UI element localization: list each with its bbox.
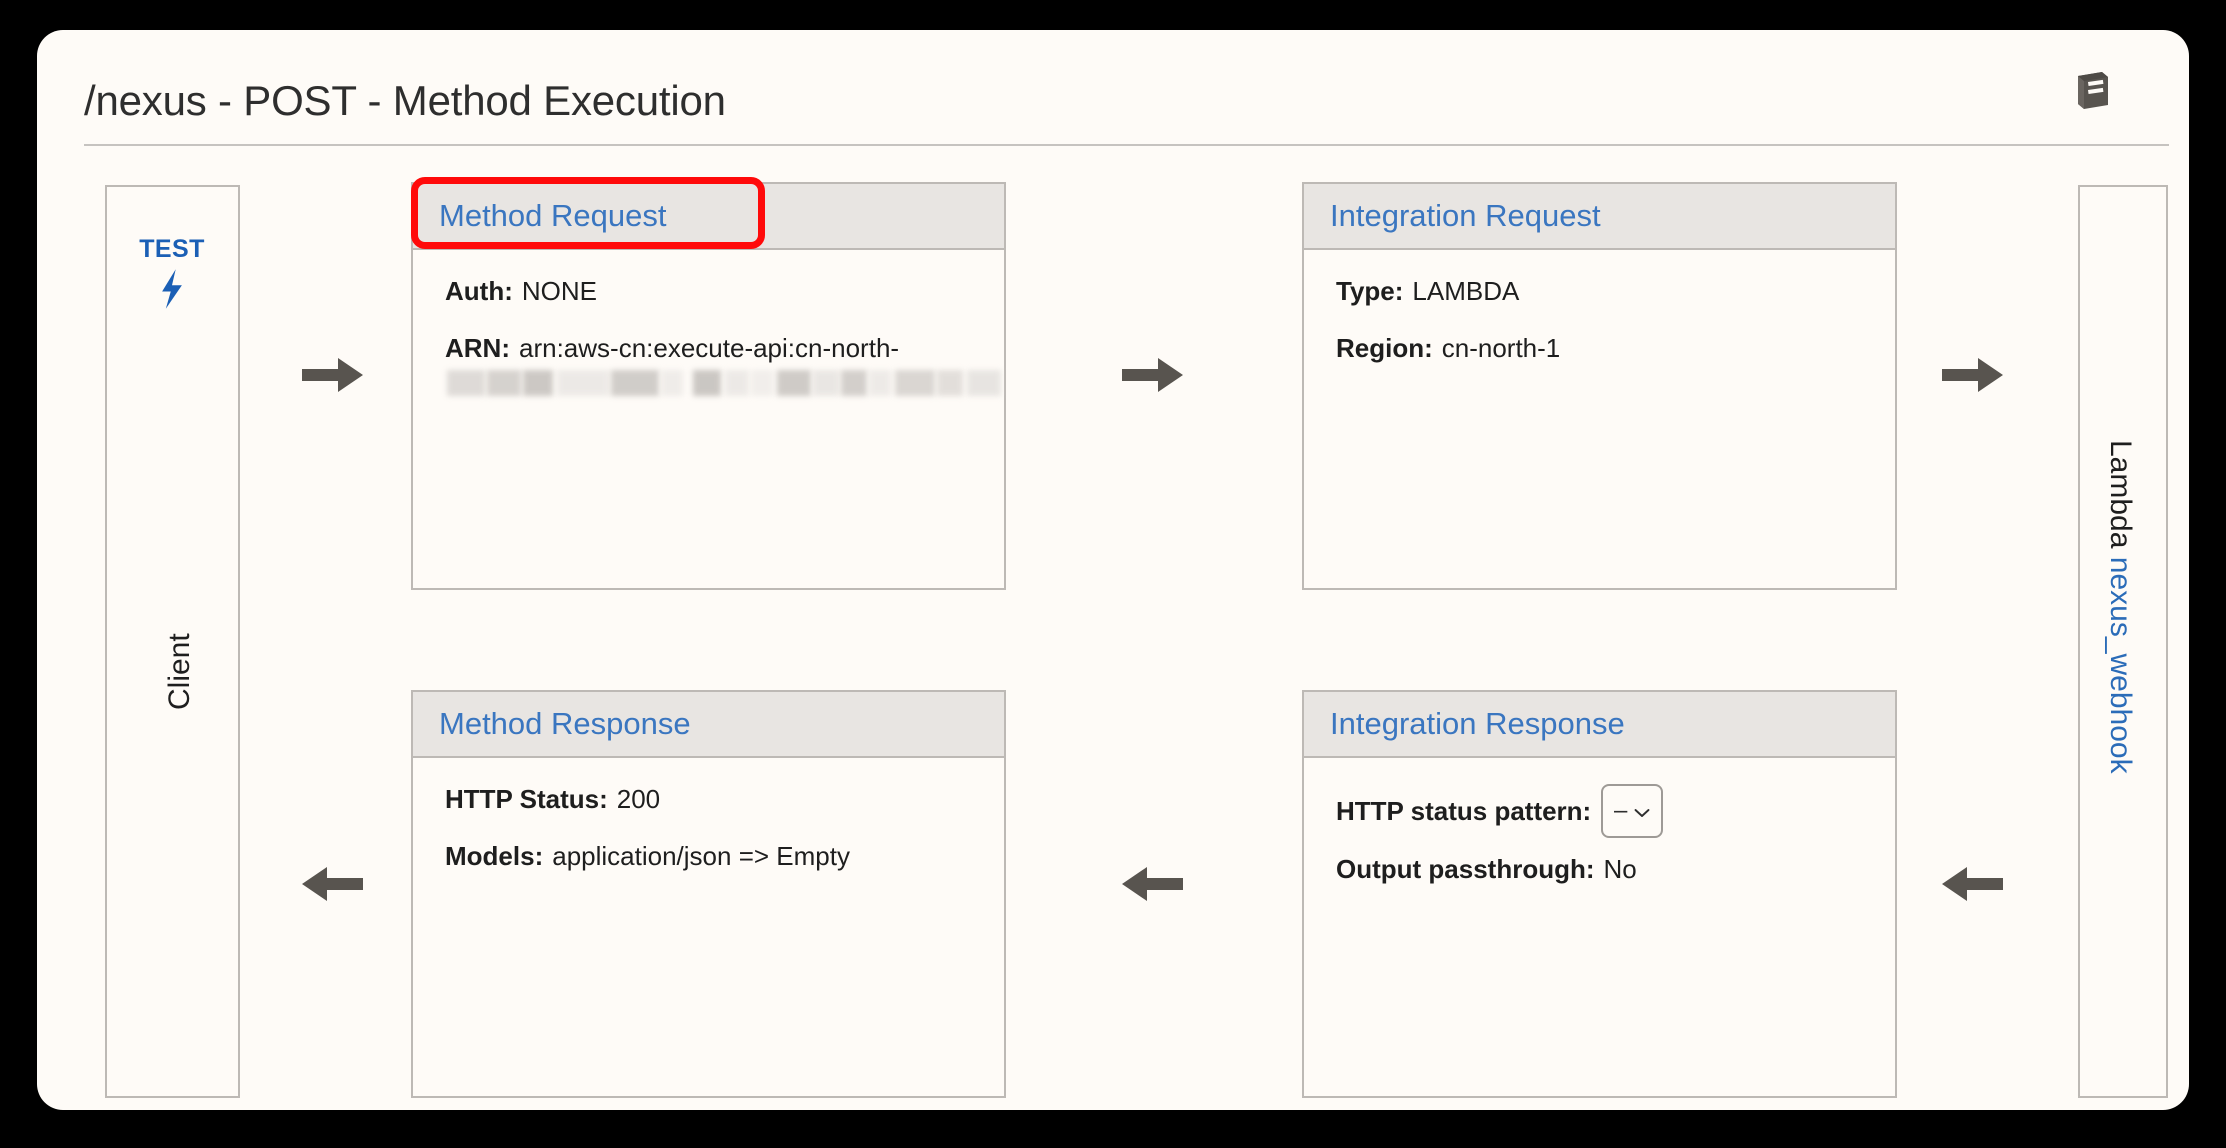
models-value: application/json => Empty (552, 841, 850, 872)
integration-request-region-row: Region: cn-north-1 (1336, 333, 1895, 364)
status-pattern-dropdown[interactable]: – (1601, 784, 1663, 838)
auth-value: NONE (522, 276, 597, 307)
method-request-title: Method Request (439, 198, 666, 234)
integration-response-box[interactable]: Integration Response HTTP status pattern… (1302, 690, 1897, 1098)
arrow-left-icon (302, 865, 364, 908)
title-divider (84, 144, 2169, 146)
method-response-header[interactable]: Method Response (413, 692, 1004, 758)
integration-response-body: HTTP status pattern: – Output passthroug… (1304, 758, 1895, 885)
method-request-header[interactable]: Method Request (413, 184, 1004, 250)
chevron-down-icon (1634, 797, 1650, 825)
status-pattern-value: – (1614, 797, 1627, 825)
type-key: Type: (1336, 276, 1403, 307)
type-value: LAMBDA (1412, 276, 1519, 307)
lightning-bolt-icon (137, 268, 207, 315)
method-response-body: HTTP Status: 200 Models: application/jso… (413, 758, 1004, 872)
region-key: Region: (1336, 333, 1433, 364)
integration-request-box[interactable]: Integration Request Type: LAMBDA Region:… (1302, 182, 1897, 590)
arrow-right-icon (1122, 356, 1184, 399)
region-value: cn-north-1 (1442, 333, 1561, 364)
lambda-lane-prefix: Lambda (2104, 440, 2137, 548)
auth-key: Auth: (445, 276, 513, 307)
method-response-title: Method Response (439, 706, 691, 742)
method-response-models-row: Models: application/json => Empty (445, 841, 1004, 872)
models-key: Models: (445, 841, 543, 872)
integration-response-title: Integration Response (1330, 706, 1625, 742)
arrow-left-icon (1942, 865, 2004, 908)
output-passthrough-value: No (1604, 854, 1637, 885)
method-response-box[interactable]: Method Response HTTP Status: 200 Models:… (411, 690, 1006, 1098)
integration-request-header[interactable]: Integration Request (1304, 184, 1895, 250)
integration-response-passthrough-row: Output passthrough: No (1336, 854, 1895, 885)
client-lane-label: Client (163, 633, 197, 710)
lambda-function-link[interactable]: nexus_webhook (2104, 557, 2137, 774)
integration-request-type-row: Type: LAMBDA (1336, 276, 1895, 307)
arrow-right-icon (302, 356, 364, 399)
integration-response-status-pattern-row: HTTP status pattern: – (1336, 784, 1895, 838)
method-execution-panel: /nexus - POST - Method Execution TEST Cl… (37, 30, 2189, 1110)
integration-request-title: Integration Request (1330, 198, 1601, 234)
test-label: TEST (137, 235, 207, 264)
integration-response-header[interactable]: Integration Response (1304, 692, 1895, 758)
page-title: /nexus - POST - Method Execution (84, 77, 726, 125)
lambda-lane-label: Lambda nexus_webhook (2103, 440, 2137, 774)
arn-redacted-text (447, 370, 1003, 404)
method-request-auth-row: Auth: NONE (445, 276, 1004, 307)
method-request-box[interactable]: Method Request Auth: NONE ARN: arn:aws-c… (411, 182, 1006, 590)
book-icon[interactable] (2068, 68, 2114, 114)
method-response-status-row: HTTP Status: 200 (445, 784, 1004, 815)
status-pattern-label: HTTP status pattern: (1336, 796, 1591, 827)
http-status-value: 200 (617, 784, 660, 815)
arrow-left-icon (1122, 865, 1184, 908)
method-request-arn-row: ARN: arn:aws-cn:execute-api:cn-north- (445, 333, 1004, 364)
arn-value: arn:aws-cn:execute-api:cn-north- (519, 333, 899, 364)
http-status-key: HTTP Status: (445, 784, 608, 815)
output-passthrough-key: Output passthrough: (1336, 854, 1595, 885)
arn-key: ARN: (445, 333, 510, 364)
test-button[interactable]: TEST (137, 235, 207, 315)
method-request-body: Auth: NONE ARN: arn:aws-cn:execute-api:c… (413, 250, 1004, 404)
integration-request-body: Type: LAMBDA Region: cn-north-1 (1304, 250, 1895, 364)
arrow-right-icon (1942, 356, 2004, 399)
